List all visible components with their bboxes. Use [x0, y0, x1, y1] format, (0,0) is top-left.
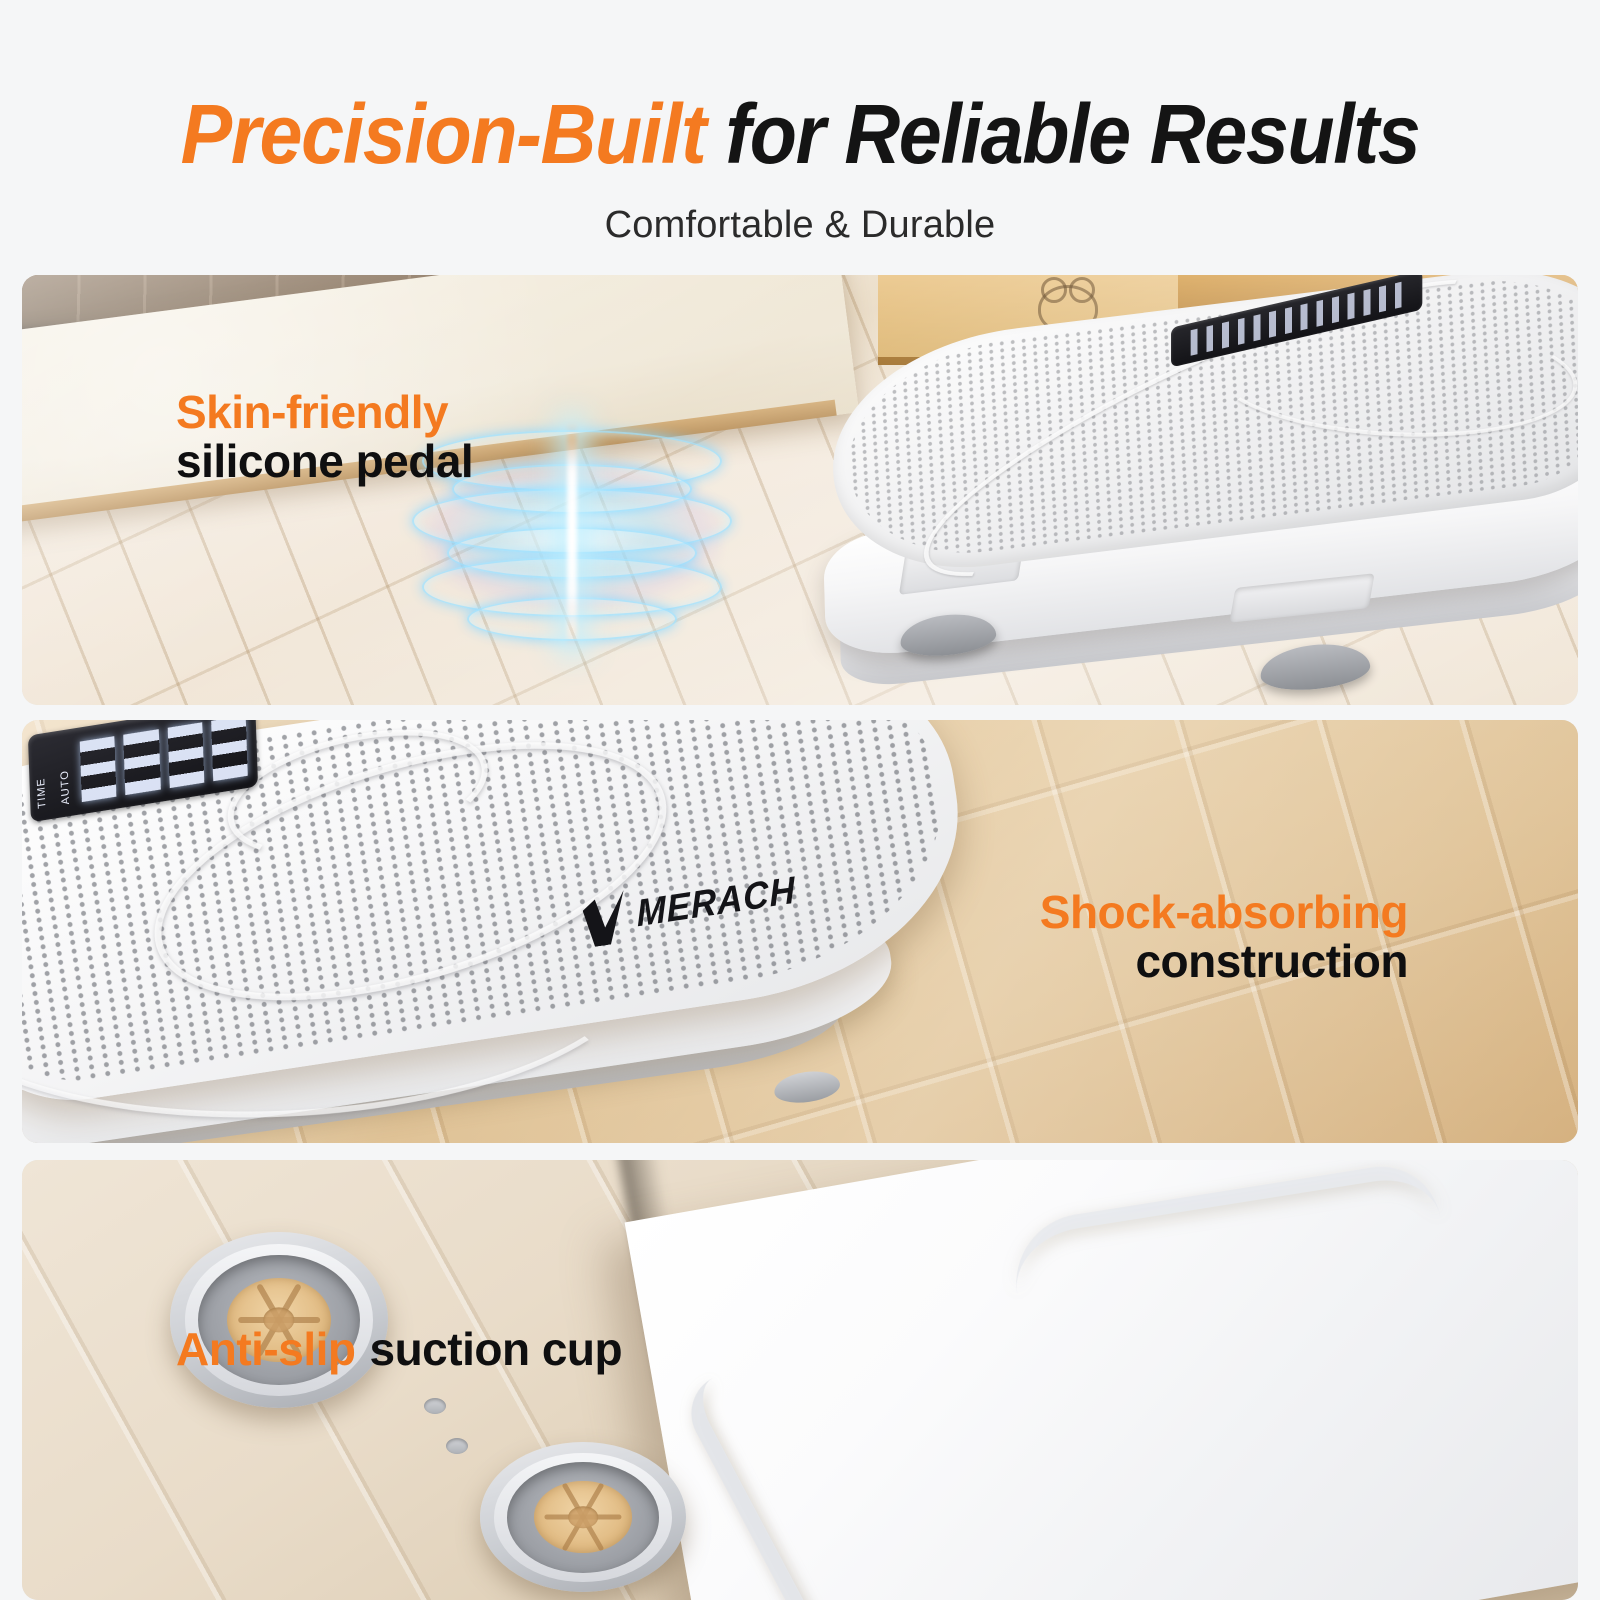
led-label-time: TIME	[35, 777, 48, 809]
led-readout	[80, 720, 248, 802]
suction-cup-pad	[534, 1481, 633, 1553]
suction-cup	[480, 1442, 686, 1592]
screw-hole	[446, 1438, 468, 1454]
page-title: Precision-Built for Reliable Results	[64, 92, 1536, 176]
caption-accent-line: Shock-absorbing	[1040, 888, 1408, 937]
headline-accent: Precision-Built	[181, 87, 706, 181]
headline-rest: for Reliable Results	[705, 87, 1419, 181]
led-label-auto: AUTO	[59, 769, 72, 805]
header: Precision-Built for Reliable Results Com…	[0, 0, 1600, 247]
caption-accent-line: Anti-slip	[176, 1325, 355, 1374]
suction-cup	[170, 1232, 388, 1408]
page-subtitle: Comfortable & Durable	[0, 204, 1600, 247]
feature-panel-anti-slip-suction-cup	[22, 1160, 1578, 1600]
product-foot	[772, 1068, 842, 1107]
caption-main-line: construction	[1040, 937, 1408, 986]
caption-anti-slip-suction-cup: Anti-slip suction cup	[176, 1325, 622, 1374]
suction-foot-right	[1258, 639, 1372, 694]
suction-cup-hub	[568, 1506, 598, 1528]
merach-checkmark-icon	[582, 890, 626, 948]
vibration-plate-closeup: TIME AUTO MERACH	[22, 720, 1012, 1143]
caption-shock-absorbing-construction: Shock-absorbing construction	[1040, 888, 1408, 986]
feature-panel-skin-friendly-silicone-pedal	[22, 275, 1578, 705]
caption-skin-friendly-silicone-pedal: Skin-friendly silicone pedal	[176, 388, 473, 486]
screw-hole	[424, 1398, 446, 1414]
caption-accent-line: Skin-friendly	[176, 388, 473, 437]
caption-main-line: suction cup	[369, 1325, 622, 1374]
caption-main-line: silicone pedal	[176, 437, 473, 486]
vibration-plate-product	[792, 297, 1578, 705]
